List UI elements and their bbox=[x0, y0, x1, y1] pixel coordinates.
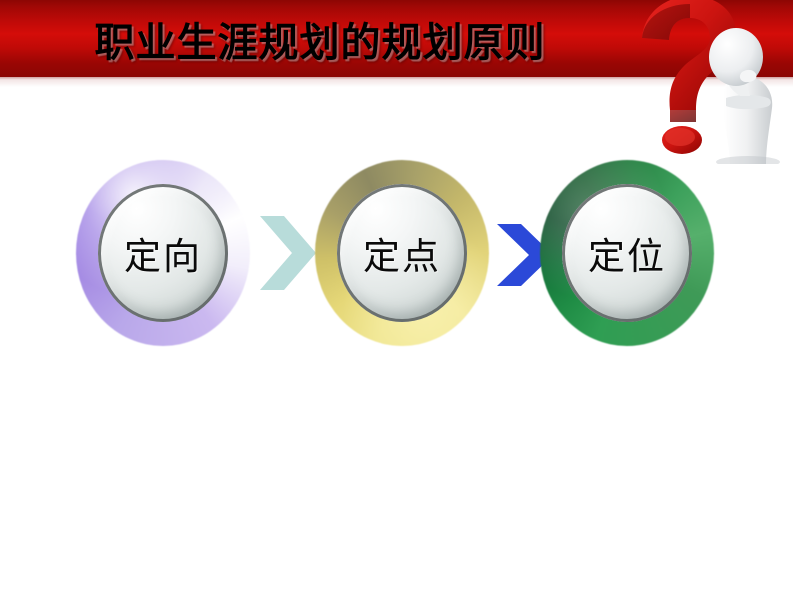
node-label: 定向 bbox=[124, 226, 202, 280]
node-label: 定位 bbox=[588, 226, 666, 280]
node-label: 定点 bbox=[363, 226, 441, 280]
question-mark-thinker-icon bbox=[630, 0, 793, 164]
node-inner-circle: 定点 bbox=[337, 184, 467, 322]
chevron-right-icon bbox=[258, 214, 320, 292]
node-inner-circle: 定位 bbox=[562, 184, 692, 322]
process-node-1[interactable]: 定向 bbox=[76, 160, 250, 346]
node-inner-circle: 定向 bbox=[98, 184, 228, 322]
process-node-2[interactable]: 定点 bbox=[315, 160, 489, 346]
page-title: 职业生涯规划的规划原则 bbox=[0, 0, 640, 77]
presentation-slide: 职业生涯规划的规划原则 bbox=[0, 0, 793, 595]
process-node-3[interactable]: 定位 bbox=[540, 160, 714, 346]
